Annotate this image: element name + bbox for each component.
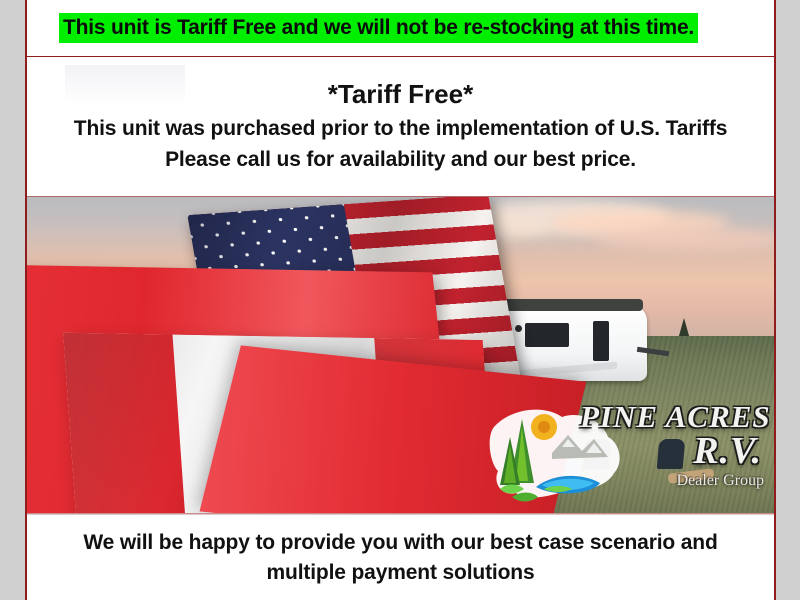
closing-statement-row: We will be happy to provide you with our… xyxy=(27,514,774,600)
rv-window xyxy=(525,323,569,347)
listing-card: This unit is Tariff Free and we will not… xyxy=(25,0,776,600)
tariff-banner-row: This unit is Tariff Free and we will not… xyxy=(27,0,774,57)
tariff-statement-row: *Tariff Free* This unit was purchased pr… xyxy=(27,57,774,197)
page-root: This unit is Tariff Free and we will not… xyxy=(0,0,800,600)
tariff-free-title: *Tariff Free* xyxy=(328,78,473,111)
closing-line-1: We will be happy to provide you with our… xyxy=(83,528,717,558)
rv-light xyxy=(515,325,522,332)
tariff-statement-line-1: This unit was purchased prior to the imp… xyxy=(74,114,727,144)
pine-acres-rv-logo: PINE ACRES R.V. Dealer Group xyxy=(482,393,772,511)
faint-watermark xyxy=(65,65,185,105)
tariff-statement-line-2: Please call us for availability and our … xyxy=(165,145,636,175)
pine-acres-badge-icon xyxy=(482,397,632,505)
hero-photo-row: PINE ACRES R.V. Dealer Group xyxy=(27,197,774,514)
closing-line-2: multiple payment solutions xyxy=(267,558,535,588)
rv-window xyxy=(593,321,609,361)
tariff-banner-text: This unit is Tariff Free and we will not… xyxy=(59,13,698,44)
hero-photo: PINE ACRES R.V. Dealer Group xyxy=(27,197,774,513)
